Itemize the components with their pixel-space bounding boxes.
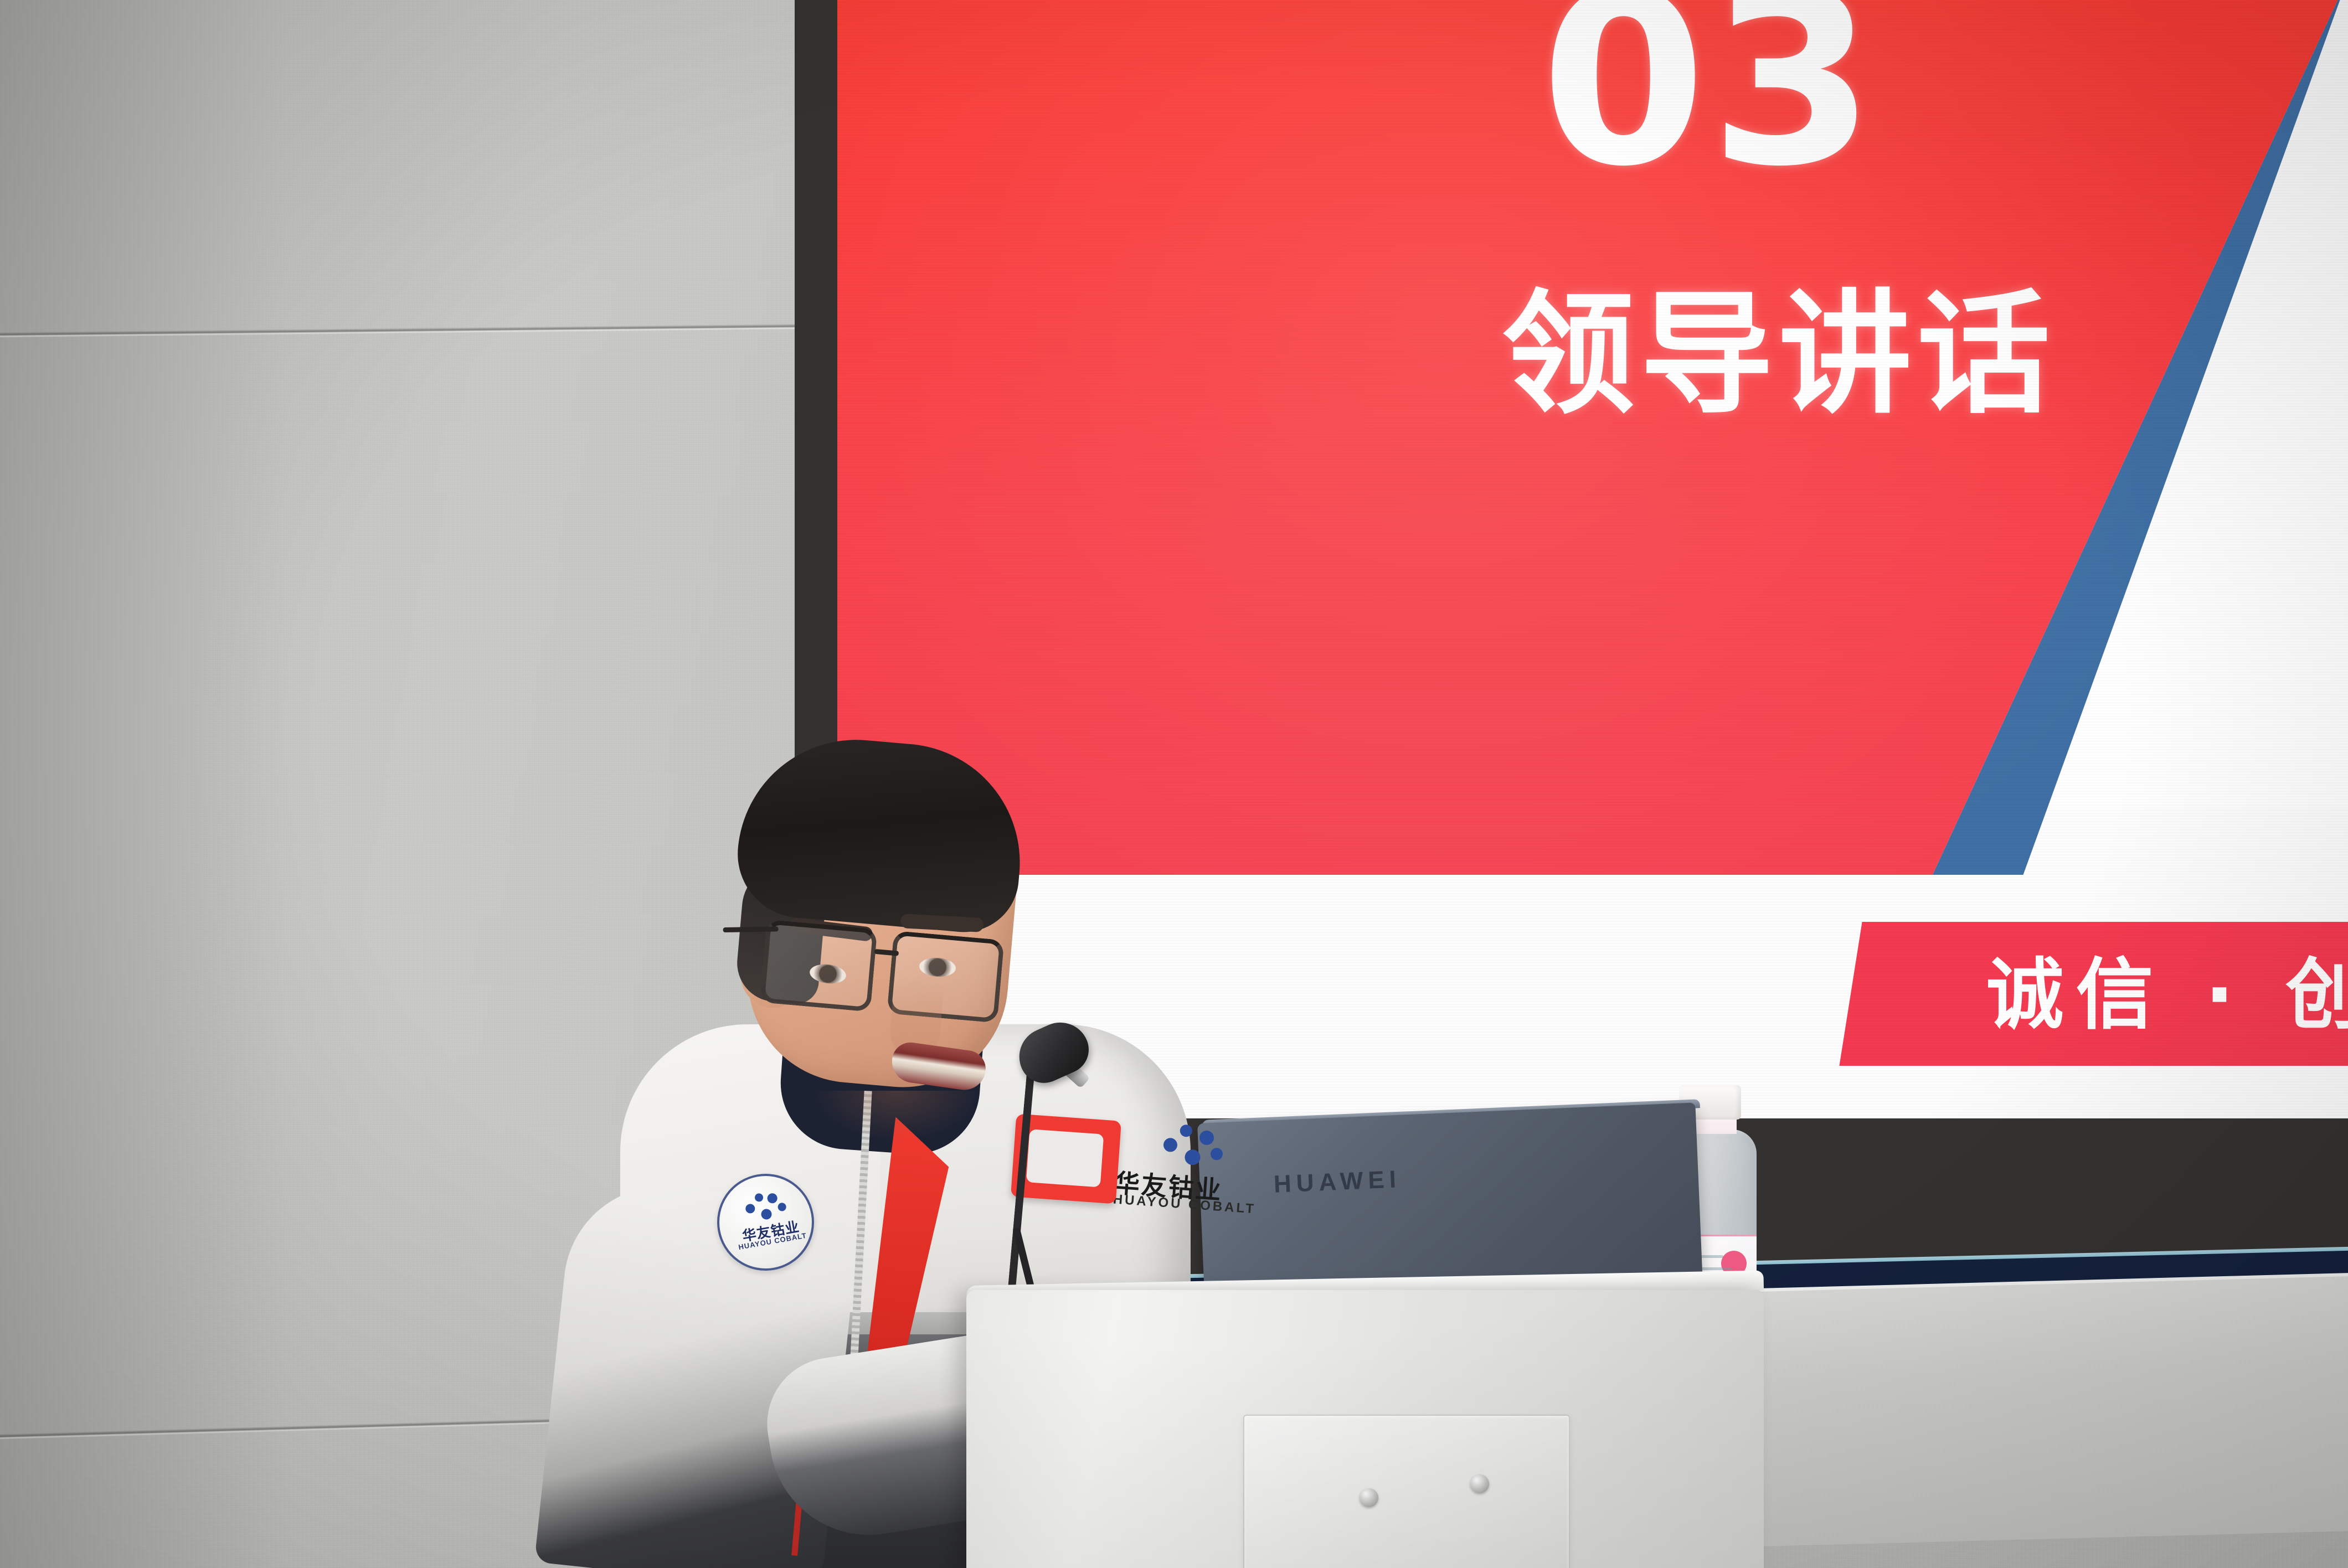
logo-dot	[760, 1208, 773, 1220]
slide-section-number: 03	[1541, 0, 1878, 199]
logo-dot	[1199, 1130, 1214, 1146]
podium-plate-screw-right	[1470, 1474, 1489, 1493]
glasses-lens-left	[760, 920, 877, 1012]
slide-slogan-text: 诚信 · 创	[1986, 951, 2348, 1040]
logo-dot	[754, 1193, 764, 1202]
logo-dot	[1185, 1149, 1201, 1165]
logo-dot	[1163, 1138, 1178, 1153]
slide-heading: 领导讲话	[1502, 288, 2056, 421]
logo-dot	[766, 1193, 778, 1204]
logo-dot	[1210, 1148, 1223, 1160]
logo-dot	[1180, 1125, 1192, 1137]
logo-dot	[777, 1202, 786, 1211]
photo-scene: 03 领导讲话 诚信 · 创 HUAWEI	[0, 0, 2348, 1568]
chest-logo-mark	[1161, 1123, 1230, 1172]
glasses-temple-arm	[723, 926, 779, 932]
logo-dot	[745, 1203, 756, 1214]
chin-shadow	[814, 1091, 980, 1141]
podium-plate-screw-left	[1360, 1488, 1378, 1507]
hair	[733, 730, 1030, 936]
podium-sign-plate	[1243, 1415, 1570, 1568]
slide-slogan-ribbon: 诚信 · 创	[1839, 922, 2348, 1066]
